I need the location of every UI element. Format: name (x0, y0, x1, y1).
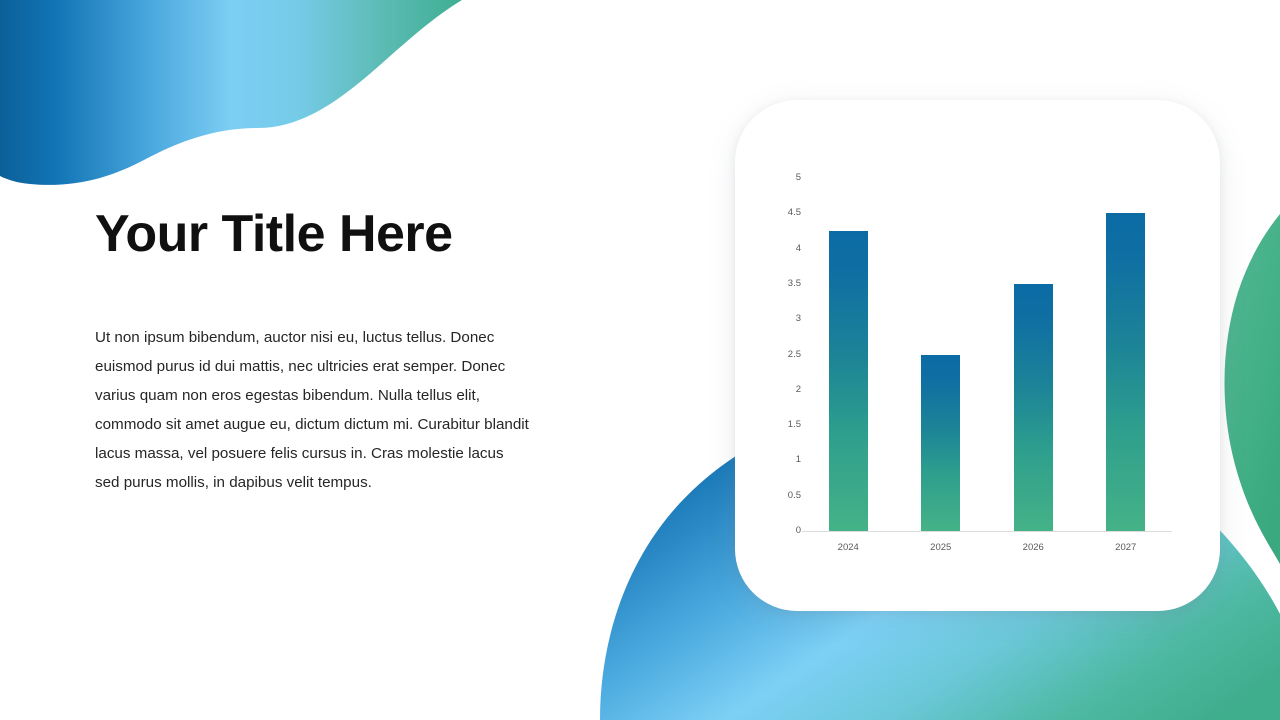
slide-canvas: Your Title Here Ut non ipsum bibendum, a… (0, 0, 1280, 720)
page-title: Your Title Here (95, 205, 545, 263)
y-axis-tick-label: 2 (755, 385, 801, 395)
bar-2027[interactable] (1106, 213, 1145, 531)
x-axis-line (802, 531, 1172, 532)
y-axis-tick-label: 4 (755, 244, 801, 254)
bar-2024[interactable] (829, 231, 868, 531)
y-axis-tick-label: 1 (755, 455, 801, 465)
x-axis-tick-label: 2027 (1080, 542, 1172, 553)
plot-area (802, 178, 1172, 531)
bar-2025[interactable] (921, 355, 960, 532)
bar-chart: 00.511.522.533.544.55 2024202520262027 (735, 100, 1220, 611)
y-axis-tick-label: 2.5 (755, 350, 801, 360)
y-axis-tick-label: 5 (755, 173, 801, 183)
y-axis-tick-label: 4.5 (755, 208, 801, 218)
x-axis-tick-label: 2025 (895, 542, 987, 553)
x-axis-tick-label: 2026 (987, 542, 1079, 553)
body-paragraph: Ut non ipsum bibendum, auctor nisi eu, l… (95, 263, 532, 497)
x-axis-tick-label: 2024 (802, 542, 894, 553)
y-axis-tick-label: 3.5 (755, 279, 801, 289)
text-column: Your Title Here Ut non ipsum bibendum, a… (95, 205, 545, 497)
y-axis: 00.511.522.533.544.55 (749, 100, 801, 611)
y-axis-tick-label: 0 (755, 526, 801, 536)
chart-card: 00.511.522.533.544.55 2024202520262027 (735, 100, 1220, 611)
bar-2026[interactable] (1014, 284, 1053, 531)
top-left-wave-shape (0, 0, 462, 185)
y-axis-tick-label: 3 (755, 314, 801, 324)
y-axis-tick-label: 0.5 (755, 491, 801, 501)
y-axis-tick-label: 1.5 (755, 420, 801, 430)
right-edge-green-shape (1225, 214, 1280, 564)
